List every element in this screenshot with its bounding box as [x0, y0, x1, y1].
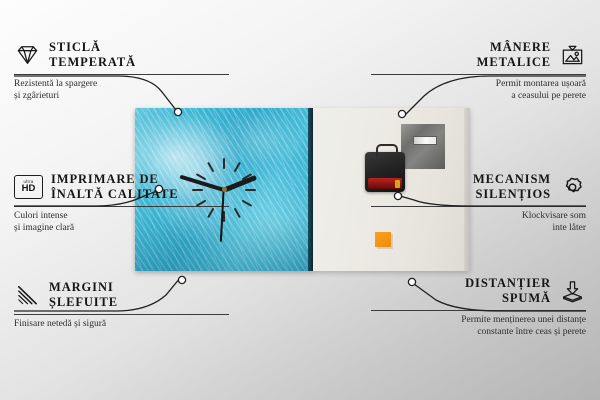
product-infographic: STICLĂ TEMPERATĂ Rezistentă la spargere …: [0, 0, 600, 400]
callout-connectors: [0, 0, 600, 400]
callout-endpoint-print: [155, 185, 162, 192]
callout-endpoint-foam: [408, 278, 415, 285]
callout-endpoint-mechanism: [394, 192, 401, 199]
callout-endpoint-handle: [398, 110, 405, 117]
callout-endpoint-edge: [178, 276, 185, 283]
callout-endpoint-glass: [174, 108, 181, 115]
